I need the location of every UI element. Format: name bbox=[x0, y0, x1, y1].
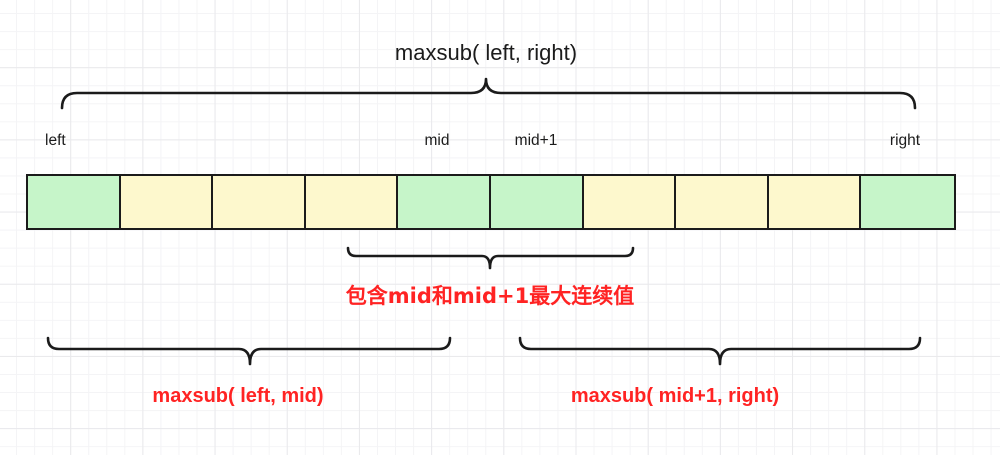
array-cell bbox=[398, 176, 491, 228]
array-strip bbox=[26, 174, 956, 230]
brace-bottom-left-half bbox=[48, 338, 450, 364]
label-mid: mid bbox=[425, 133, 450, 149]
brace-top-full-range bbox=[62, 79, 915, 108]
brace-bottom-right-half bbox=[520, 338, 920, 364]
label-mid-plus-1: mid+1 bbox=[515, 133, 558, 149]
array-cell bbox=[676, 176, 769, 228]
array-cell bbox=[28, 176, 121, 228]
label-right: right bbox=[890, 133, 920, 149]
array-cell bbox=[213, 176, 306, 228]
array-cell bbox=[584, 176, 677, 228]
array-cell bbox=[121, 176, 214, 228]
array-cell bbox=[769, 176, 862, 228]
array-cell bbox=[861, 176, 954, 228]
array-cell bbox=[306, 176, 399, 228]
bottom-right-brace-label: maxsub( mid+1, right) bbox=[571, 386, 779, 406]
top-brace-label: maxsub( left, right) bbox=[395, 42, 577, 64]
array-cell bbox=[491, 176, 584, 228]
diagram-canvas: maxsub( left, right) left mid mid+1 righ… bbox=[0, 0, 1000, 455]
bottom-left-brace-label: maxsub( left, mid) bbox=[152, 386, 323, 406]
label-left: left bbox=[45, 133, 66, 149]
middle-brace-label: 包含mid和mid+1最大连续值 bbox=[346, 286, 634, 307]
brace-middle-crossing bbox=[348, 248, 633, 268]
